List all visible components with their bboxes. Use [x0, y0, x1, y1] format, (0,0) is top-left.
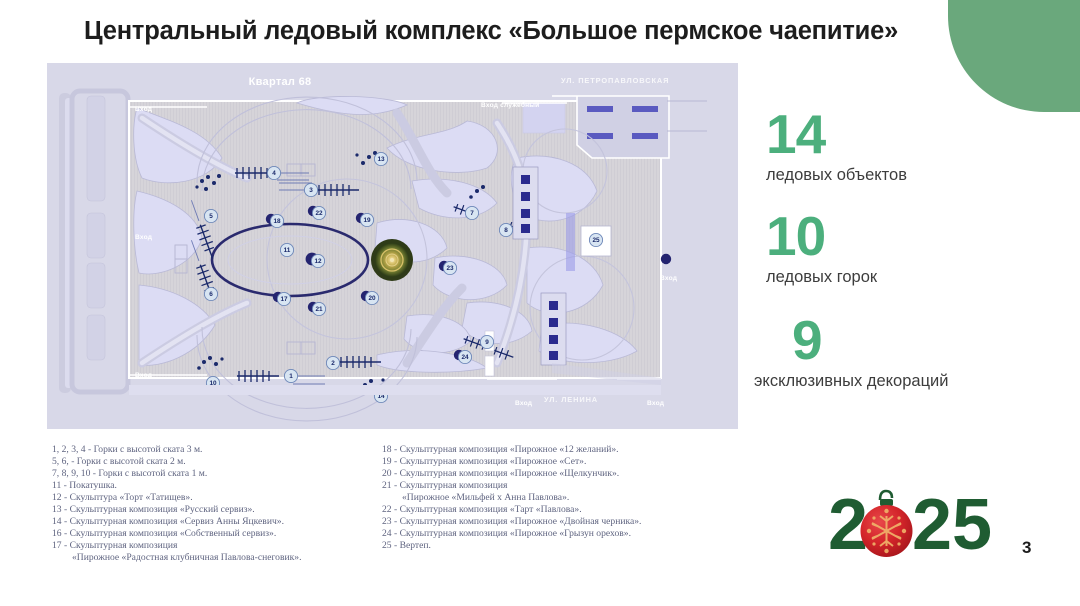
legend-item: 1, 2, 3, 4 - Горки с высотой ската 3 м.	[52, 444, 397, 456]
map-marker-18[interactable]: 18	[270, 214, 283, 227]
map-marker-25[interactable]: 25	[589, 233, 602, 246]
legend-item: 23 - Скульптурная композиция «Пирожное «…	[382, 516, 742, 528]
legend-item: 20 - Скульптурная композиция «Пирожное «…	[382, 468, 742, 480]
map-marker-label: 6	[209, 291, 213, 298]
map-entrance-label: Вход	[660, 275, 678, 282]
map-entrance-label: Вход	[515, 400, 533, 407]
park-map-svg: Квартал 68 УЛ. ПЕТРОПАВЛОВСКАЯ УЛ. ЛЕНИН…	[47, 63, 738, 429]
map-entrance-label: Вход служебный	[481, 101, 539, 109]
stat-block-ice-slides: 10 ледовых горок	[766, 207, 1066, 287]
legend-item: 16 - Скульптурная композиция «Собственны…	[52, 528, 397, 540]
map-marker-24[interactable]: 24	[458, 350, 471, 363]
stat-number: 10	[766, 207, 1066, 265]
map-marker-4[interactable]: 4	[267, 166, 280, 179]
map-marker-label: 22	[315, 210, 323, 217]
year-logo-svg: 2 25	[828, 483, 1004, 561]
map-marker-1[interactable]: 1	[284, 369, 297, 382]
map-marker-label: 3	[309, 187, 313, 194]
map-marker-label: 20	[368, 295, 376, 302]
page-title: Центральный ледовый комплекс «Большое пе…	[84, 17, 898, 46]
map-kiosk-row-upper	[513, 167, 538, 239]
map-marker-23[interactable]: 23	[443, 261, 456, 274]
map-marker-label: 25	[592, 237, 600, 244]
map-marker-19[interactable]: 19	[360, 213, 373, 226]
legend-column-right: 18 - Скульптурная композиция «Пирожное «…	[382, 444, 742, 552]
legend-item: 25 - Вертеп.	[382, 540, 742, 552]
map-marker-label: 23	[446, 265, 454, 272]
map-marker-7[interactable]: 7	[465, 206, 478, 219]
map-marker-9[interactable]: 9	[480, 335, 493, 348]
stat-label: ледовых горок	[766, 267, 1066, 287]
statistics-panel: 14 ледовых объектов 10 ледовых горок 9 э…	[766, 105, 1066, 391]
map-street-label-bottom: УЛ. ЛЕНИНА	[544, 395, 598, 404]
map-entrance-label: Вход	[135, 234, 153, 241]
legend-item: 22 - Скульптурная композиция «Тарт «Павл…	[382, 504, 742, 516]
map-marker-label: 9	[485, 339, 489, 346]
map-marker-11[interactable]: 11	[280, 243, 293, 256]
stat-number: 14	[766, 105, 1066, 163]
map-marker-2[interactable]: 2	[326, 356, 339, 369]
legend-item: 13 - Скульптурная композиция «Русский се…	[52, 504, 397, 516]
map-marker-12[interactable]: 12	[311, 254, 324, 267]
page-number: 3	[1022, 538, 1031, 558]
map-marker-5[interactable]: 5	[204, 209, 217, 222]
legend-column-left: 1, 2, 3, 4 - Горки с высотой ската 3 м.5…	[52, 444, 397, 564]
map-street-label-top: УЛ. ПЕТРОПАВЛОВСКАЯ	[561, 76, 669, 85]
map-kiosk-row-lower	[541, 293, 566, 365]
stat-label: ледовых объектов	[766, 165, 1066, 185]
map-quarter-label: Квартал 68	[249, 76, 312, 88]
map-marker-label: 13	[377, 156, 385, 163]
year-digits-25: 25	[912, 485, 992, 561]
map-marker-label: 7	[470, 210, 474, 217]
map-entrance-label: Вход	[647, 400, 665, 407]
map-marker-21[interactable]: 21	[312, 302, 325, 315]
year-2025-logo: 2 25	[828, 483, 1004, 561]
map-legend: 1, 2, 3, 4 - Горки с высотой ската 3 м.5…	[52, 444, 742, 590]
legend-item: 24 - Скульптурная композиция «Пирожное «…	[382, 528, 742, 540]
map-marker-label: 1	[289, 373, 293, 380]
legend-item: «Пирожное «Радостная клубничная Павлова-…	[52, 552, 397, 564]
map-marker-label: 19	[363, 217, 371, 224]
park-map-panel[interactable]: Квартал 68 УЛ. ПЕТРОПАВЛОВСКАЯ УЛ. ЛЕНИН…	[47, 63, 738, 429]
map-marker-label: 8	[504, 227, 508, 234]
legend-item: 12 - Скульптура «Торт «Татищев».	[52, 492, 397, 504]
map-marker-label: 24	[461, 354, 469, 361]
legend-item: 19 - Скульптурная композиция «Пирожное «…	[382, 456, 742, 468]
map-marker-label: 21	[315, 306, 323, 313]
map-marker-label: 18	[273, 218, 281, 225]
map-main-christmas-tree	[371, 239, 413, 281]
map-marker-label: 4	[272, 170, 276, 177]
map-marker-3[interactable]: 3	[304, 183, 317, 196]
legend-item: «Пирожное «Мильфей х Анна Павлова».	[382, 492, 742, 504]
map-marker-label: 17	[280, 296, 288, 303]
christmas-ball-icon	[861, 491, 913, 557]
map-marker-label: 11	[284, 247, 291, 254]
legend-item: 7, 8, 9, 10 - Горки с высотой ската 1 м.	[52, 468, 397, 480]
stat-block-ice-objects: 14 ледовых объектов	[766, 105, 1066, 185]
legend-item: 17 - Скульптурная композиция	[52, 540, 397, 552]
legend-item: 5, 6, - Горки с высотой ската 2 м.	[52, 456, 397, 468]
map-marker-13[interactable]: 13	[374, 152, 387, 165]
legend-item: 18 - Скульптурная композиция «Пирожное «…	[382, 444, 742, 456]
map-left-buildings	[87, 96, 105, 360]
legend-item: 14 - Скульптурная композиция «Сервиз Анн…	[52, 516, 397, 528]
map-marker-20[interactable]: 20	[365, 291, 378, 304]
legend-item: 11 - Покатушка.	[52, 480, 397, 492]
map-marker-label: 5	[209, 213, 213, 220]
stat-label: эксклюзивных декораций	[754, 371, 1066, 391]
stat-number: 9	[792, 311, 1066, 369]
stat-block-exclusive-decorations: 9 эксклюзивных декораций	[792, 311, 1066, 391]
map-marker-17[interactable]: 17	[277, 292, 290, 305]
corner-decoration-shape	[948, 0, 1080, 112]
legend-item: 21 - Скульптурная композиция	[382, 480, 742, 492]
map-marker-label: 12	[314, 258, 322, 265]
map-marker-label: 2	[331, 360, 335, 367]
map-marker-8[interactable]: 8	[499, 223, 512, 236]
map-marker-22[interactable]: 22	[312, 206, 325, 219]
map-marker-6[interactable]: 6	[204, 287, 217, 300]
